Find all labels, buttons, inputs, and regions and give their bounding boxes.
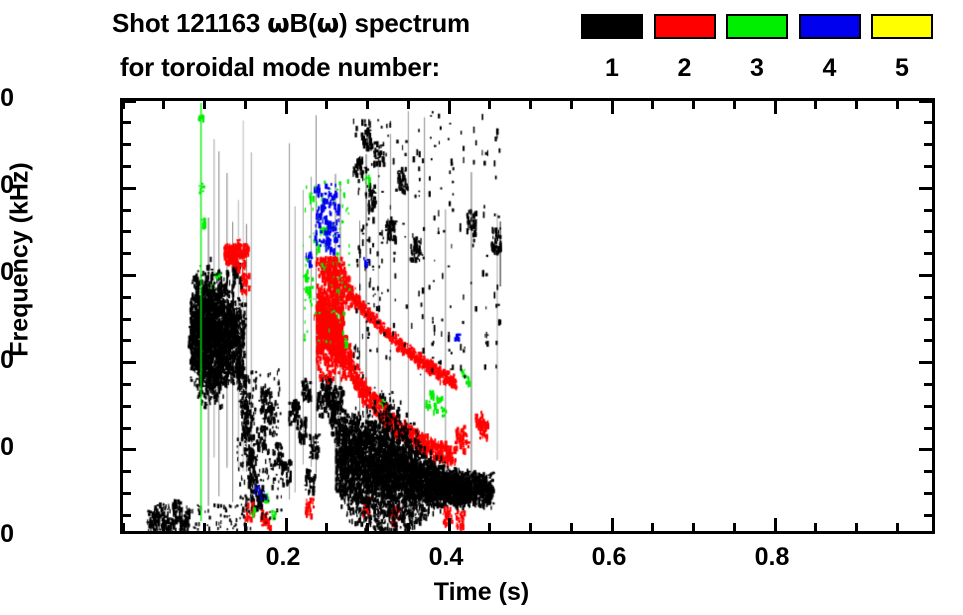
x-tick-label: 0.4	[429, 543, 464, 572]
x-tick-major-top	[285, 101, 288, 114]
y-tick-minor	[123, 296, 131, 299]
y-tick-minor-right	[924, 121, 932, 124]
y-tick-major-right	[919, 448, 932, 451]
x-tick-minor	[325, 523, 328, 531]
x-tick-minor-top	[488, 101, 491, 109]
x-tick-minor-top	[651, 101, 654, 109]
y-tick-major	[123, 187, 136, 190]
x-tick-minor	[366, 523, 369, 531]
legend: 12345	[0, 0, 963, 96]
legend-swatch-4	[799, 14, 861, 39]
y-tick-minor-right	[924, 165, 932, 168]
x-tick-minor	[651, 523, 654, 531]
x-tick-minor-top	[325, 101, 328, 109]
y-tick-minor	[123, 405, 131, 408]
x-tick-minor	[488, 523, 491, 531]
y-tick-minor	[123, 492, 131, 495]
x-tick-label: 0.8	[755, 543, 790, 572]
x-tick-major-top	[448, 101, 451, 114]
x-tick-major-top	[611, 101, 614, 114]
y-tick-major-right	[919, 187, 932, 190]
y-tick-minor	[123, 383, 131, 386]
x-tick-minor	[529, 523, 532, 531]
x-tick-major	[774, 518, 777, 531]
x-tick-minor	[733, 523, 736, 531]
y-tick-minor-right	[924, 230, 932, 233]
y-tick-minor	[123, 339, 131, 342]
x-tick-minor-top	[896, 101, 899, 109]
legend-label-4: 4	[799, 54, 861, 83]
legend-label-1: 1	[581, 54, 643, 83]
y-tick-minor	[123, 165, 131, 168]
legend-swatch-2	[654, 14, 716, 39]
x-tick-minor-top	[733, 101, 736, 109]
y-tick-major-right	[919, 100, 932, 103]
x-tick-minor	[570, 523, 573, 531]
y-tick-minor-right	[924, 383, 932, 386]
y-tick-minor	[123, 230, 131, 233]
y-tick-major	[123, 448, 136, 451]
x-tick-minor	[122, 523, 125, 531]
y-axis-label: Frequency (kHz)	[6, 80, 35, 440]
y-tick-minor	[123, 318, 131, 321]
legend-swatch-5	[871, 14, 933, 39]
x-tick-major	[285, 518, 288, 531]
x-tick-minor	[203, 523, 206, 531]
x-tick-minor	[814, 523, 817, 531]
legend-label-5: 5	[871, 54, 933, 83]
y-tick-minor	[123, 121, 131, 124]
x-tick-minor-top	[407, 101, 410, 109]
y-tick-minor	[123, 252, 131, 255]
x-tick-minor-top	[162, 101, 165, 109]
y-tick-minor	[123, 143, 131, 146]
y-tick-major	[123, 274, 136, 277]
y-tick-minor	[123, 427, 131, 430]
y-tick-minor-right	[924, 492, 932, 495]
x-tick-major-top	[774, 101, 777, 114]
y-tick-major-right	[919, 361, 932, 364]
y-tick-minor-right	[924, 405, 932, 408]
y-tick-minor	[123, 514, 131, 517]
x-tick-minor-top	[366, 101, 369, 109]
figure-root: Shot 121163 ωB(ω) spectrum for toroidal …	[0, 0, 963, 615]
y-tick-minor-right	[924, 296, 932, 299]
legend-label-2: 2	[654, 54, 716, 83]
x-tick-minor-top	[203, 101, 206, 109]
y-tick-minor-right	[924, 427, 932, 430]
x-tick-minor-top	[244, 101, 247, 109]
legend-swatch-1	[581, 14, 643, 39]
y-tick-major	[123, 361, 136, 364]
x-tick-minor-top	[814, 101, 817, 109]
x-tick-minor	[692, 523, 695, 531]
y-tick-label: 0	[0, 520, 14, 549]
x-tick-major	[448, 518, 451, 531]
x-tick-major	[611, 518, 614, 531]
plot-area[interactable]	[120, 98, 935, 534]
x-tick-minor	[407, 523, 410, 531]
x-tick-minor-top	[692, 101, 695, 109]
y-tick-minor-right	[924, 470, 932, 473]
y-tick-major	[123, 100, 136, 103]
spectrogram-canvas	[123, 101, 932, 531]
y-tick-minor-right	[924, 339, 932, 342]
y-tick-minor-right	[924, 318, 932, 321]
legend-swatch-3	[726, 14, 788, 39]
y-tick-minor-right	[924, 252, 932, 255]
x-tick-minor	[896, 523, 899, 531]
y-tick-major-right	[919, 274, 932, 277]
y-tick-minor-right	[924, 514, 932, 517]
x-tick-minor-top	[122, 101, 125, 109]
y-tick-minor	[123, 470, 131, 473]
y-tick-minor	[123, 209, 131, 212]
x-tick-label: 0.6	[592, 543, 627, 572]
x-tick-minor-top	[855, 101, 858, 109]
x-axis-label: Time (s)	[0, 578, 963, 607]
x-tick-minor-top	[570, 101, 573, 109]
x-tick-minor-top	[529, 101, 532, 109]
x-tick-minor	[855, 523, 858, 531]
y-tick-minor-right	[924, 209, 932, 212]
x-tick-minor	[244, 523, 247, 531]
legend-label-3: 3	[726, 54, 788, 83]
y-tick-minor-right	[924, 143, 932, 146]
x-tick-label: 0.2	[266, 543, 301, 572]
x-tick-minor	[162, 523, 165, 531]
